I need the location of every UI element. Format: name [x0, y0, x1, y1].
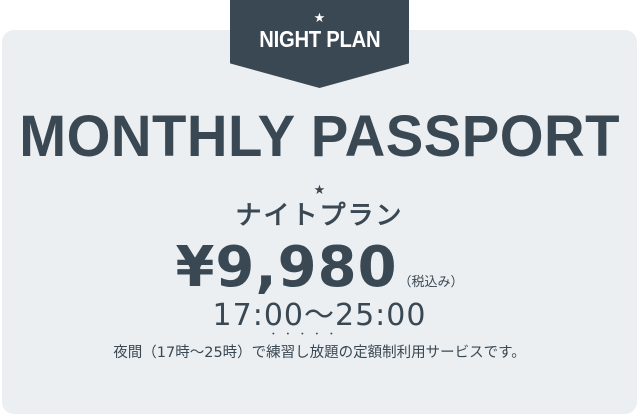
description-note: 夜間（17時〜25時）で・・・・・練習し放題の定額制利用サービスです。 [113, 342, 525, 364]
ribbon-content: ★ NIGHT PLAN [230, 0, 409, 88]
price-row: ¥9,980 （税込み） [175, 239, 463, 297]
price-amount: ¥9,980 [175, 239, 397, 297]
star-icon: ★ [314, 184, 326, 195]
note-text-emphasized: 練習し放題 [266, 345, 339, 361]
note-text-before: 夜間（17時〜25時）で [113, 342, 266, 364]
note-text-after: の定額制利用サービスです。 [339, 342, 526, 364]
note-emphasized-wrap: ・・・・・練習し放題 [266, 342, 339, 364]
subtitle-japanese: ナイトプラン [235, 201, 403, 231]
price-tax-note: （税込み） [399, 275, 464, 297]
ribbon-label: NIGHT PLAN [259, 27, 380, 52]
page-title: MONTHLY PASSPORT [19, 108, 620, 166]
night-plan-ribbon: ★ NIGHT PLAN [230, 0, 409, 88]
star-icon: ★ [314, 11, 326, 24]
time-range: 17:00〜25:00 [213, 299, 427, 333]
